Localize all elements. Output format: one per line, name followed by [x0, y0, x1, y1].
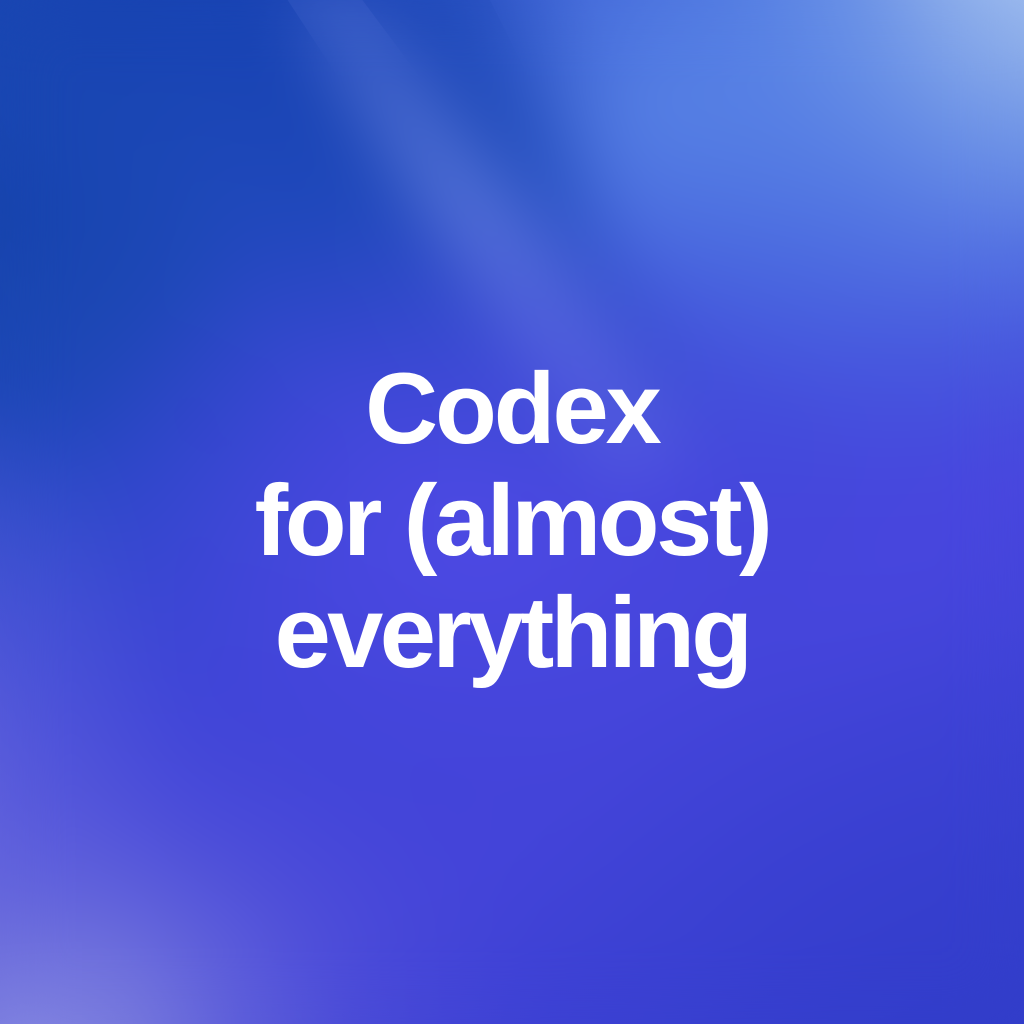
headline-line-2: for (almost) — [255, 465, 770, 577]
headline-line-3: everything — [275, 577, 750, 689]
headline-line-1: Codex — [365, 353, 659, 465]
headline-block: Codex for (almost) everything — [0, 0, 1024, 1024]
title-card: Codex for (almost) everything — [0, 0, 1024, 1024]
